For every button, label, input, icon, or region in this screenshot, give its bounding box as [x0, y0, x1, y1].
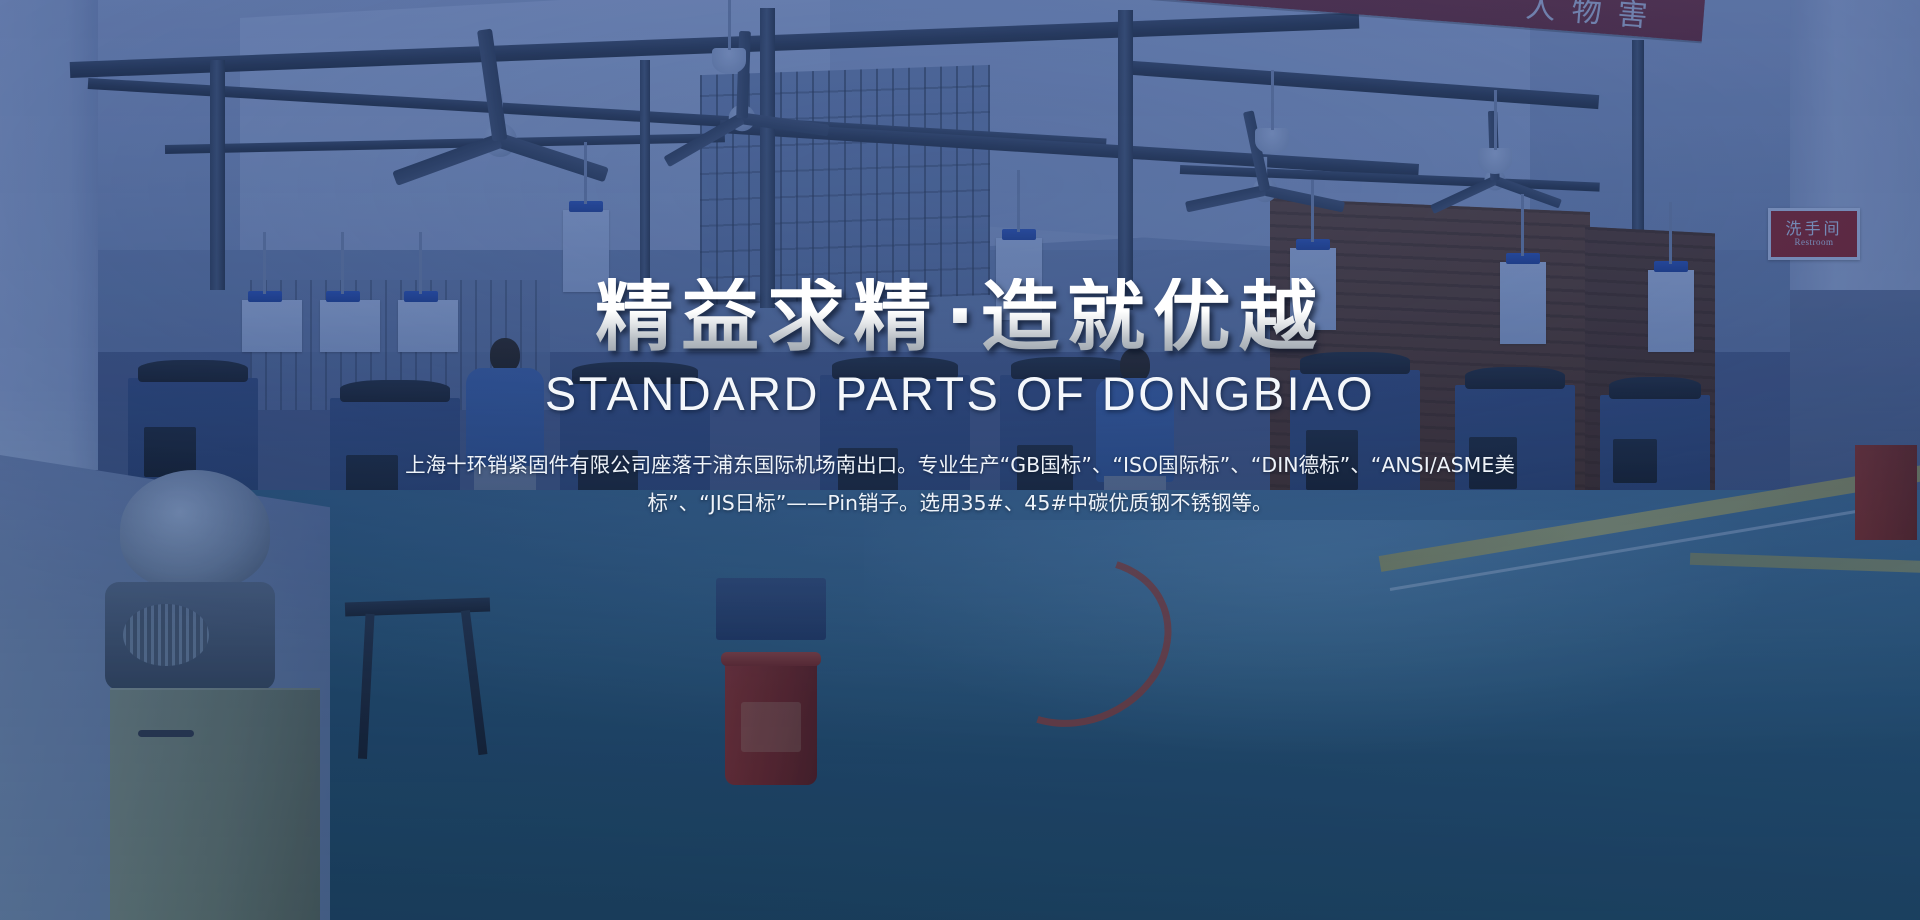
restroom-sign-english: Restroom — [1795, 238, 1834, 247]
steel-column — [1118, 10, 1133, 310]
headline-right-phrase: 造就优越 — [981, 272, 1325, 362]
headline-separator-dot: · — [939, 272, 981, 362]
hanging-lamp — [712, 48, 746, 74]
steel-column — [640, 60, 650, 290]
hero-copy-block: 精益求精·造就优越 STANDARD PARTS OF DONGBIAO 上海十… — [0, 278, 1920, 523]
restroom-sign: 洗手间 Restroom — [1768, 208, 1860, 260]
hero-banner: 人物害 洗手间 Restroom — [0, 0, 1920, 920]
headline-left-phrase: 精益求精 — [595, 272, 939, 362]
steel-column — [760, 8, 775, 308]
hanging-lamp — [1255, 128, 1289, 154]
hero-headline: 精益求精·造就优越 — [0, 278, 1920, 356]
steel-column — [210, 60, 225, 290]
hero-subheadline: STANDARD PARTS OF DONGBIAO — [0, 370, 1920, 417]
hero-description: 上海十环销紧固件有限公司座落于浦东国际机场南出口。专业生产“GB国标”、“ISO… — [380, 447, 1540, 523]
red-oil-bucket — [725, 660, 817, 785]
parts-crate — [716, 578, 826, 640]
electric-motor — [105, 582, 275, 690]
metal-cabinet — [110, 688, 320, 920]
restroom-sign-chinese: 洗手间 — [1785, 221, 1842, 238]
hanging-lamp — [1478, 148, 1512, 174]
